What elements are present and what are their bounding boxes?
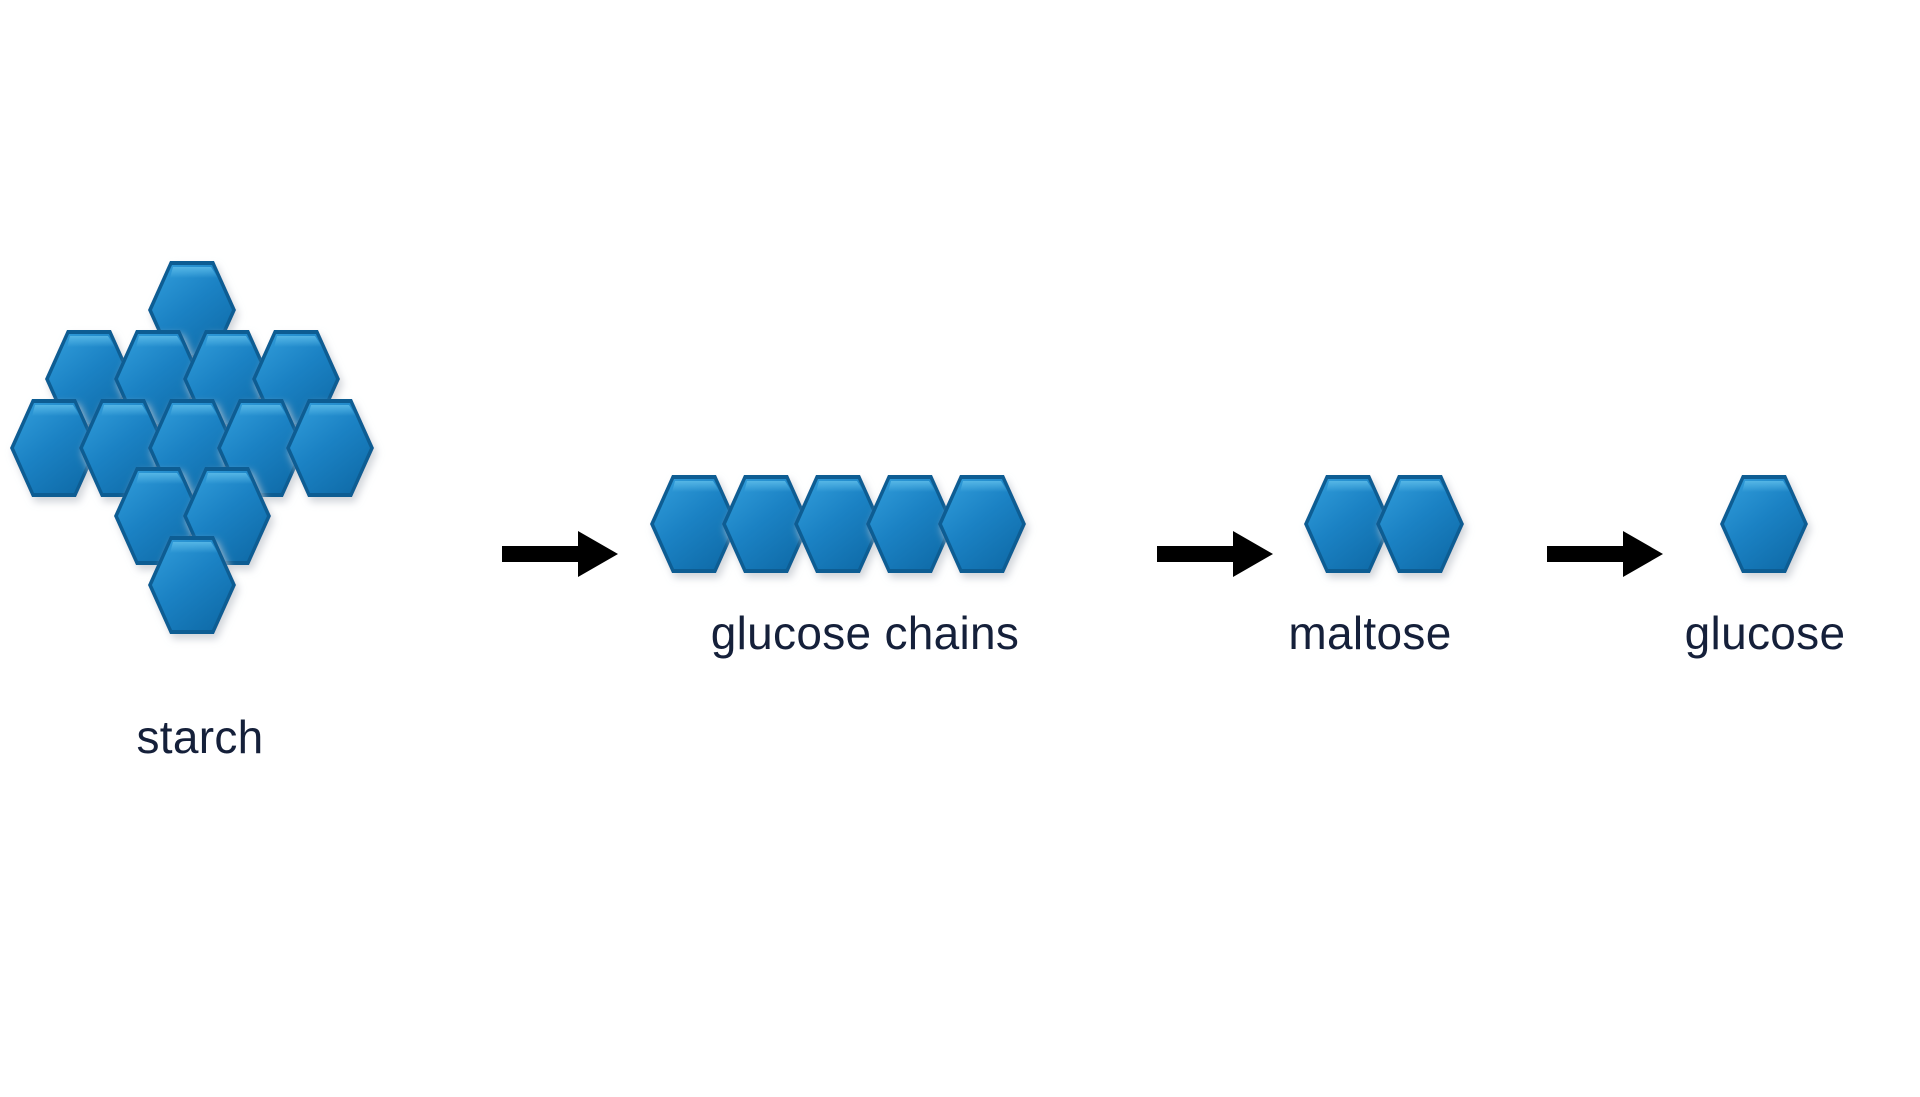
stage-label-glucose-chains: glucose chains (600, 610, 1130, 656)
glucose-unit-hexagon (1374, 472, 1466, 576)
arrow-maltose-to-glucose (1545, 525, 1665, 583)
stage-label-starch: starch (120, 714, 280, 760)
glucose-unit-hexagon (284, 396, 376, 500)
arrow-glucose-chains-to-maltose (1155, 525, 1275, 583)
arrow-starch-to-glucose-chains (500, 525, 620, 583)
glucose-unit-hexagon (146, 533, 238, 637)
diagram-canvas: starch (0, 0, 1920, 1097)
glucose-unit-hexagon (936, 472, 1028, 576)
stage-label-glucose: glucose (1640, 610, 1890, 656)
glucose-unit-hexagon (1718, 472, 1810, 576)
stage-label-maltose: maltose (1220, 610, 1520, 656)
